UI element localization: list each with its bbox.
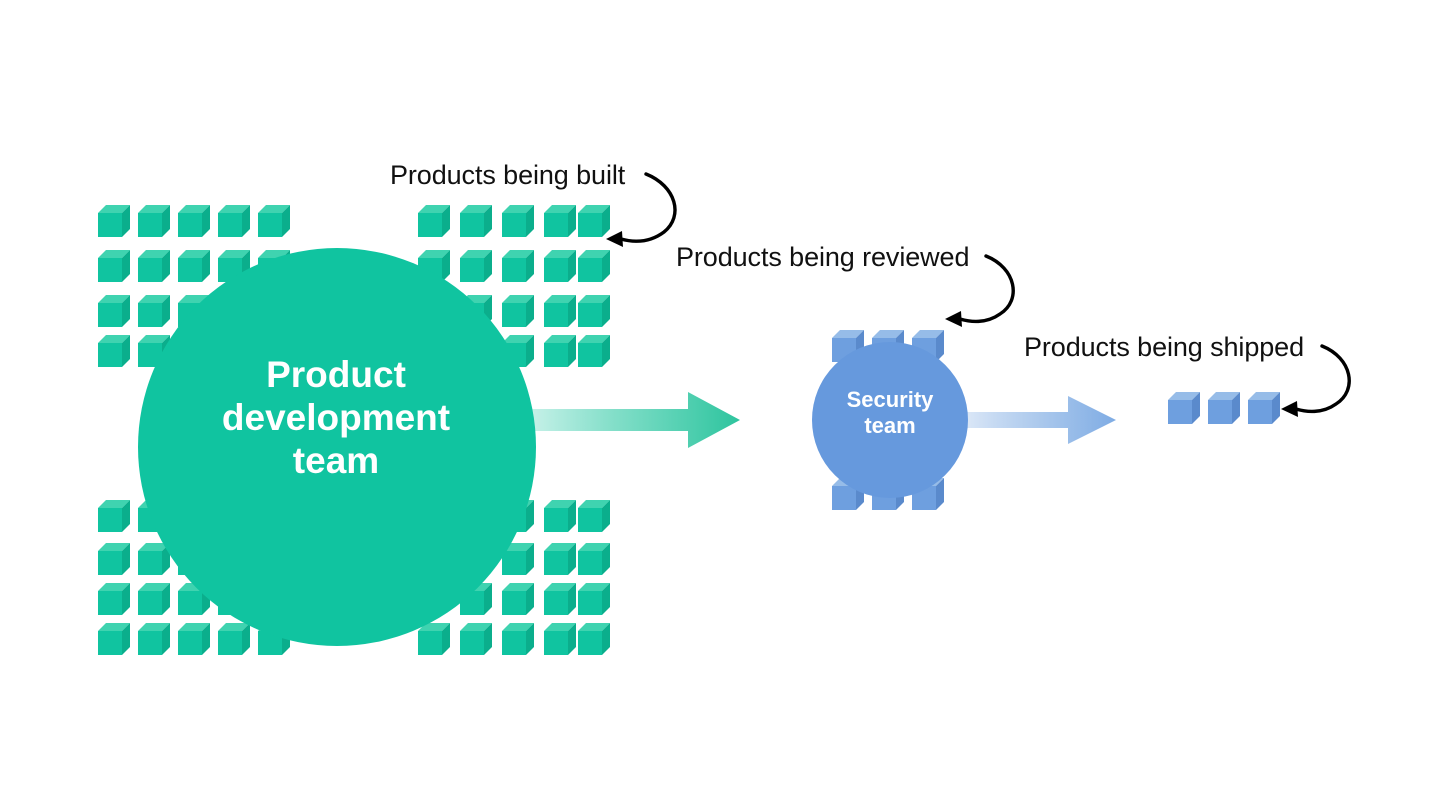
callout-products-being-built: Products being built — [390, 160, 625, 191]
flow-arrow-dev-to-security — [500, 392, 740, 448]
security-team-label: Security team — [820, 387, 960, 438]
shipped-products — [1168, 392, 1280, 424]
product-development-team-label: Product development team — [166, 354, 506, 483]
callout-products-being-shipped: Products being shipped — [1024, 332, 1304, 363]
callout-products-being-reviewed: Products being reviewed — [676, 242, 969, 273]
diagram-canvas: Product development team Security team P… — [0, 0, 1430, 802]
